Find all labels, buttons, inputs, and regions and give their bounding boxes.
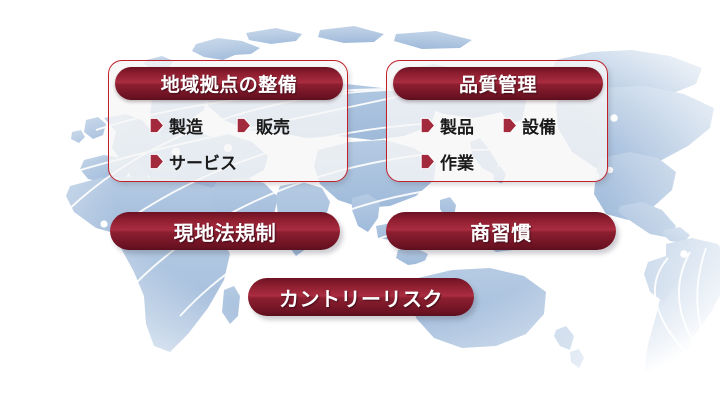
- panel-regional-bases-title: 地域拠点の整備: [161, 70, 298, 97]
- pill-country-risk-label: カントリーリスク: [279, 283, 443, 312]
- bullet-item-seizou[interactable]: 製造: [149, 113, 203, 138]
- pill-local-regulations-label: 現地法規制: [174, 217, 277, 246]
- panel-quality-control[interactable]: 品質管理 製品 設備 作業: [386, 60, 608, 182]
- bullet-item-seihin[interactable]: 製品: [420, 113, 474, 138]
- panel-regional-bases[interactable]: 地域拠点の整備 製造 販売 サービス: [108, 60, 348, 182]
- pill-business-customs[interactable]: 商習慣: [386, 212, 616, 250]
- pill-local-regulations[interactable]: 現地法規制: [110, 212, 340, 250]
- triangle-bullet-icon: [149, 117, 165, 134]
- bullet-label-seizou: 製造: [169, 113, 203, 138]
- triangle-bullet-icon: [420, 153, 436, 170]
- triangle-bullet-icon: [236, 117, 252, 134]
- bullet-label-seihin: 製品: [440, 113, 474, 138]
- triangle-bullet-icon: [420, 117, 436, 134]
- triangle-bullet-icon: [502, 117, 518, 134]
- bullet-label-sagyou: 作業: [440, 149, 474, 174]
- bullet-item-sagyou[interactable]: 作業: [420, 149, 474, 174]
- pill-business-customs-label: 商習慣: [470, 217, 532, 246]
- panel-quality-control-title: 品質管理: [459, 70, 537, 97]
- panel-quality-control-header: 品質管理: [393, 67, 603, 100]
- bullet-label-setsubi: 設備: [522, 113, 556, 138]
- pill-country-risk[interactable]: カントリーリスク: [248, 278, 474, 316]
- bullet-item-service[interactable]: サービス: [149, 149, 237, 174]
- bullet-item-setsubi[interactable]: 設備: [502, 113, 556, 138]
- panel-regional-bases-header: 地域拠点の整備: [115, 67, 343, 100]
- world-map-background: [0, 0, 720, 405]
- bullet-label-service: サービス: [169, 149, 237, 174]
- triangle-bullet-icon: [149, 153, 165, 170]
- bullet-item-hanbai[interactable]: 販売: [236, 113, 290, 138]
- slide-canvas: 地域拠点の整備 製造 販売 サービス 品質管理: [0, 0, 720, 405]
- bullet-label-hanbai: 販売: [256, 113, 290, 138]
